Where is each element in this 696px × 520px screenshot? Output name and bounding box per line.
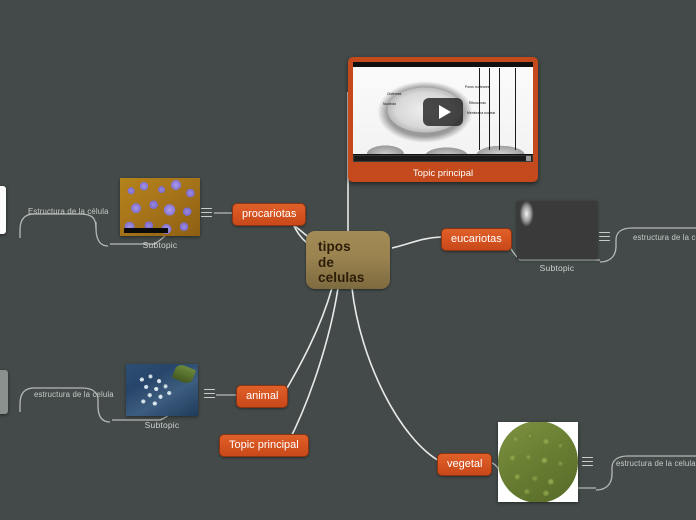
central-node-line2: de (318, 255, 390, 271)
subtopic-card-vegetal[interactable] (498, 422, 578, 502)
subtopic-caption: Subtopic (517, 263, 597, 273)
central-node[interactable]: tipos de celulas (306, 231, 390, 289)
connector-label-estructura-1: Estructura de la célula (28, 207, 109, 216)
diagram-label-membrana: Membrana nuclear (467, 111, 495, 115)
video-node-card[interactable]: Cisternas Nucleolo Poros nucleares Ribos… (348, 57, 538, 182)
bacteria-microscopy-image (120, 178, 200, 236)
subtopic-card-procariotas[interactable]: Subtopic (120, 178, 200, 250)
diagram-vertical-lines (475, 68, 527, 150)
plant-cell-image-frame (498, 422, 578, 502)
frog-eggs-image (126, 364, 198, 416)
hamburger-menu-icon[interactable] (599, 232, 610, 241)
connector-label-estructura-2: estructura de la celula (633, 233, 696, 242)
diagram-label-nucleolo: Nucleolo (383, 102, 396, 106)
frog-eggs-image-frame (126, 364, 198, 416)
video-thumbnail[interactable]: Cisternas Nucleolo Poros nucleares Ribos… (353, 62, 533, 162)
central-node-line1: tipos (318, 239, 390, 255)
subtopic-card-eucariotas[interactable]: Subtopic (517, 201, 597, 273)
subtopic-card-animal[interactable]: Subtopic (126, 364, 198, 430)
subtopic-caption: Subtopic (126, 420, 198, 430)
diagram-label-poros: Poros nucleares (465, 85, 490, 89)
offscreen-card-left-top[interactable] (0, 186, 6, 234)
connector-label-estructura-4: estructura de la celula (616, 459, 696, 468)
subtopic-caption: Subtopic (120, 240, 200, 250)
bacteria-image-frame (120, 178, 200, 236)
node-eucariotas[interactable]: eucariotas (441, 228, 512, 251)
node-vegetal[interactable]: vegetal (437, 453, 492, 476)
leaf-shape (172, 364, 197, 385)
node-animal[interactable]: animal (236, 385, 288, 408)
offscreen-card-left-bottom[interactable] (0, 370, 8, 414)
diagram-label-cisternas: Cisternas (387, 92, 401, 96)
hamburger-menu-icon[interactable] (201, 208, 212, 217)
connector-label-estructura-3: estructura de la celula (34, 390, 114, 399)
diagram-label-ribosomas: Ribosomas (469, 101, 486, 105)
central-node-line3: celulas (318, 270, 390, 286)
video-card-title: Topic principal (348, 168, 538, 179)
plant-cell-microscopy-image (498, 422, 578, 502)
image-scale-bar (124, 228, 168, 233)
diagram-top-bar (353, 62, 533, 67)
play-icon[interactable] (423, 98, 463, 126)
mindmap-canvas[interactable]: Cisternas Nucleolo Poros nucleares Ribos… (0, 0, 696, 520)
node-topic-principal[interactable]: Topic principal (219, 434, 309, 457)
node-procariotas[interactable]: procariotas (232, 203, 306, 226)
seeds-microscopy-image (517, 201, 597, 259)
hamburger-menu-icon[interactable] (204, 389, 215, 398)
seeds-image-frame (517, 201, 597, 259)
video-scrollbar[interactable] (353, 155, 533, 162)
hamburger-menu-icon[interactable] (582, 457, 593, 466)
